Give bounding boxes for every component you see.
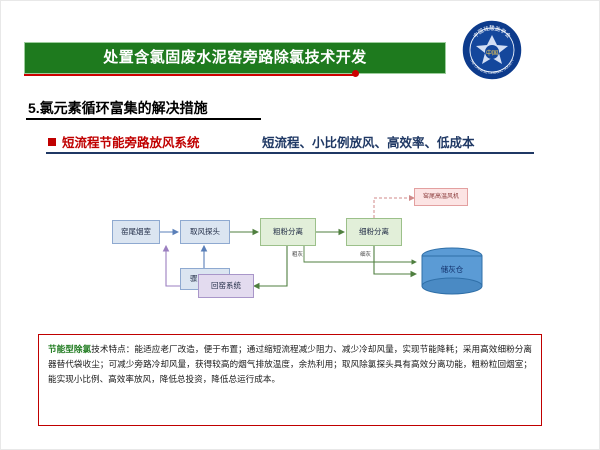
slide-root: 处置含氯固废水泥窑旁路除氯技术开发 中国 中国硅酸盐学会 THE CHINESE… (0, 0, 600, 450)
node-return-system: 回窑系统 (198, 274, 254, 298)
sub-heading-blue: 短流程、小比例放风、高效率、低成本 (262, 132, 475, 151)
node-ash-silo-label: 储灰仓 (426, 264, 478, 275)
node-fine-separator-label: 细粉分离 (359, 228, 389, 237)
node-return-system-label: 回窑系统 (211, 282, 241, 291)
page-title: 处置含氯固废水泥窑旁路除氯技术开发 (25, 43, 445, 73)
section-heading-underline (26, 118, 261, 120)
node-coarse-separator: 粗粉分离 (260, 218, 316, 246)
node-kiln-tail-hot-fan: 窑尾高温风机 (414, 188, 468, 206)
process-flow-diagram: 窑尾烟室 取风探头 骤冷风机 粗粉分离 细粉分离 窑尾高温风机 回窑系统 储灰仓… (104, 176, 504, 324)
technical-note-text: 节能型除氯技术特点：能适应老厂改造，便于布置；通过缩短流程减少阻力、减少冷却风量… (48, 342, 532, 386)
title-end-dot (352, 70, 359, 77)
technical-note-box: 节能型除氯技术特点：能适应老厂改造，便于布置；通过缩短流程减少阻力、减少冷却风量… (38, 334, 542, 426)
society-logo: 中国 中国硅酸盐学会 THE CHINESE CERAMIC SOCIETY (460, 18, 524, 82)
node-fine-separator: 细粉分离 (346, 218, 402, 246)
node-air-probe-label: 取风探头 (190, 228, 220, 237)
node-air-probe: 取风探头 (180, 220, 230, 244)
node-kiln-tail: 窑尾烟室 (112, 220, 160, 244)
title-underline (24, 74, 354, 76)
slide-title-banner: 处置含氯固废水泥窑旁路除氯技术开发 (24, 42, 446, 74)
edge-label-fine-powder: 细灰 (360, 250, 371, 258)
svg-text:中国: 中国 (486, 49, 498, 57)
edge-label-coarse-powder: 粗灰 (292, 250, 303, 258)
technical-note-body: 技术特点：能适应老厂改造，便于布置；通过缩短流程减少阻力、减少冷却风量，实现节能… (48, 344, 532, 384)
bullet-square-icon (48, 138, 56, 146)
sub-heading-underline (46, 152, 534, 154)
node-kiln-tail-hot-fan-label: 窑尾高温风机 (423, 194, 459, 201)
section-heading: 5.氯元素循环富集的解决措施 (28, 98, 208, 118)
sub-heading-red: 短流程节能旁路放风系统 (62, 132, 200, 151)
technical-note-lead: 节能型除氯 (48, 344, 91, 354)
node-coarse-separator-label: 粗粉分离 (273, 228, 303, 237)
node-kiln-tail-label: 窑尾烟室 (121, 228, 151, 237)
